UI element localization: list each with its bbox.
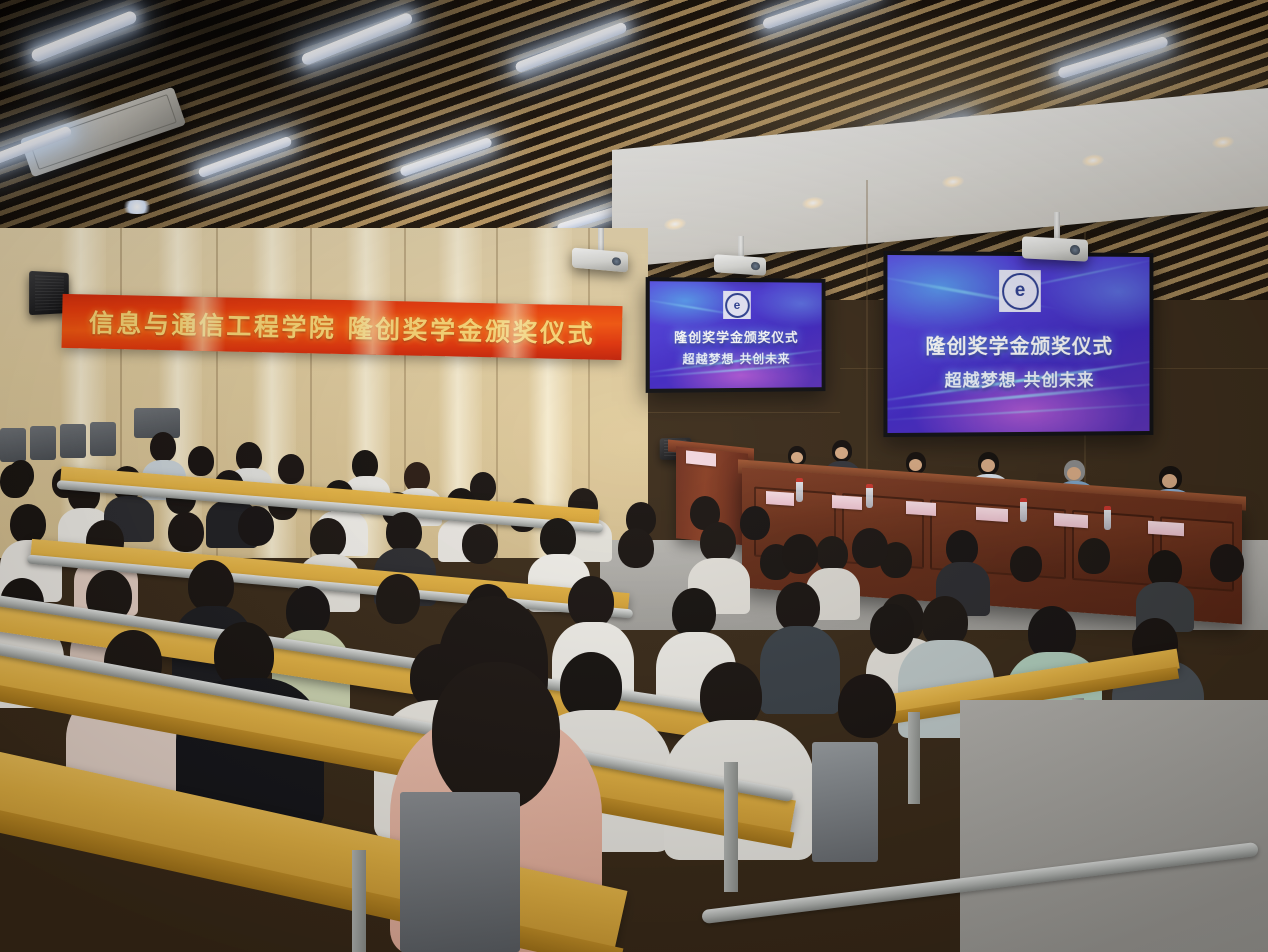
- projector-icon: [714, 254, 766, 276]
- secondary-projection-screen: e 隆创奖学金颁奖仪式 超越梦想 共创未来: [646, 277, 826, 393]
- secondary-screen-surface: e 隆创奖学金颁奖仪式 超越梦想 共创未来: [650, 281, 822, 389]
- ceiling-light: [120, 200, 154, 214]
- lecture-hall-photo: 信息与通信工程学院 隆创奖学金颁奖仪式 e 隆创奖学金颁奖仪式 超越梦想 共创未…: [0, 0, 1268, 952]
- main-projection-screen: e 隆创奖学金颁奖仪式 超越梦想 共创未来: [883, 251, 1153, 437]
- secondary-screen-title: 隆创奖学金颁奖仪式: [650, 327, 822, 346]
- main-screen-surface: e 隆创奖学金颁奖仪式 超越梦想 共创未来: [887, 255, 1149, 433]
- banner-glare: [491, 303, 538, 358]
- main-screen-subtitle: 超越梦想 共创未来: [887, 366, 1149, 392]
- desk-leg: [908, 712, 920, 804]
- aisle-floor: [960, 700, 1268, 952]
- desk-leg: [352, 850, 366, 952]
- banner-glare: [349, 300, 396, 355]
- banner-glare: [179, 296, 226, 351]
- main-screen-title: 隆创奖学金颁奖仪式: [887, 330, 1149, 359]
- secondary-screen-subtitle: 超越梦想 共创未来: [650, 350, 822, 368]
- university-emblem-icon: e: [999, 270, 1041, 312]
- desk-leg: [724, 762, 738, 892]
- projector-icon: [1022, 236, 1088, 261]
- university-emblem-icon: e: [723, 291, 751, 319]
- seat-back: [400, 792, 520, 952]
- wall-seam: [640, 412, 840, 413]
- projector-mount: [1054, 212, 1060, 240]
- seat-back: [812, 742, 878, 862]
- projector-mount: [738, 236, 744, 258]
- projector-mount: [598, 228, 604, 252]
